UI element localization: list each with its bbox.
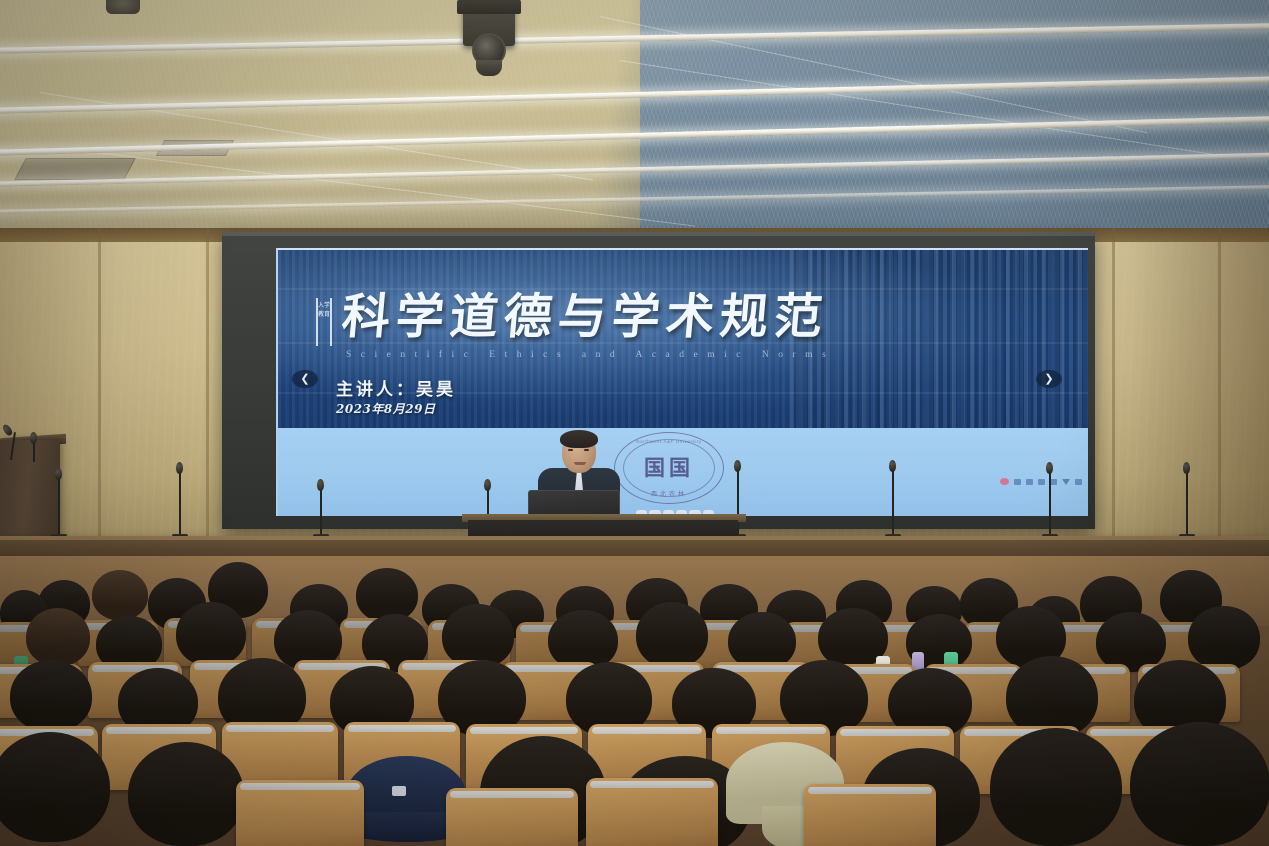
presenter-hair — [560, 430, 598, 448]
table-microphone-icon — [317, 479, 324, 491]
audience-person-head — [176, 602, 246, 666]
more-icon[interactable] — [1075, 479, 1082, 485]
presentation-slide[interactable]: 入学教育 科学道德与学术规范 Scientific Ethics and Aca… — [278, 250, 1088, 428]
wall-seam — [206, 228, 209, 560]
table-microphone-stand — [1186, 472, 1188, 536]
projector-base — [476, 60, 502, 76]
wall-seam — [1112, 228, 1115, 560]
screen-frame-highlight — [222, 232, 1095, 236]
audience-person-head — [548, 610, 618, 670]
audience-person-head — [26, 608, 90, 666]
table-microphone-stand — [58, 478, 60, 536]
presenter-eye — [568, 449, 573, 451]
audience-person-head — [10, 660, 92, 732]
slide-date-line: 2023年8月29日 — [336, 400, 435, 417]
play-icon[interactable] — [1062, 479, 1070, 485]
table-microphone-stand — [179, 472, 181, 536]
audience-person-head — [128, 742, 244, 846]
ceiling — [0, 0, 1269, 232]
slide-title: 科学道德与学术规范 — [339, 288, 830, 346]
projection-screen[interactable]: 入学教育 科学道德与学术规范 Scientific Ethics and Aca… — [276, 248, 1088, 516]
record-icon[interactable] — [1000, 478, 1009, 485]
table-microphone-icon — [55, 468, 62, 480]
note-icon[interactable] — [1050, 479, 1057, 485]
presenter-mouth — [574, 462, 586, 465]
slide-presenter-line: 主讲人：吴昊 — [336, 375, 456, 400]
pointer-icon[interactable] — [1026, 479, 1033, 485]
presenter — [536, 432, 620, 526]
table-microphone-stand — [892, 470, 894, 536]
presenter-eye — [584, 449, 589, 451]
table-microphone-icon — [176, 462, 183, 474]
table-microphone-stand — [320, 488, 322, 536]
seat — [804, 784, 936, 846]
university-emblem: Northwest A&F University 国国 西北农林 — [614, 432, 724, 504]
wall-shading — [1130, 228, 1269, 560]
ceiling-panel-left — [0, 0, 660, 232]
pen-icon[interactable] — [1038, 479, 1045, 485]
table-microphone-icon — [1046, 462, 1053, 474]
seat — [586, 778, 718, 846]
slide-next-button[interactable]: ❯ — [1036, 370, 1062, 388]
audience-person-head — [1096, 612, 1166, 672]
ceiling-vent — [14, 158, 136, 180]
table-microphone-icon — [484, 479, 491, 491]
table-microphone-stand — [1049, 472, 1051, 536]
seat — [236, 780, 364, 846]
slide-prev-button[interactable]: ❮ — [292, 370, 318, 388]
audience-area — [0, 556, 1269, 846]
audience-person-head — [92, 570, 148, 620]
cap-logo-icon — [392, 786, 406, 796]
table-microphone-icon — [734, 460, 741, 472]
audience-person-head — [1188, 606, 1260, 670]
slide-subtitle-english: Scientific Ethics and Academic Norms — [346, 350, 835, 360]
audience-person-head — [442, 604, 514, 668]
emblem-center-text: 国国 — [644, 452, 694, 482]
projector-mount — [457, 0, 521, 14]
slide-icon[interactable] — [1014, 479, 1021, 485]
smoke-detector-icon — [106, 0, 140, 14]
table-microphone-icon — [1183, 462, 1190, 474]
emblem-outer-text: Northwest A&F University — [636, 439, 701, 444]
audience-person-head — [990, 728, 1122, 846]
presentation-toolbar[interactable] — [1000, 478, 1082, 485]
audience-person-head — [636, 602, 708, 668]
stage-front-edge — [0, 536, 1269, 540]
audience-person-head — [0, 732, 110, 842]
lectern-microphone-icon — [30, 432, 37, 444]
seat — [446, 788, 578, 846]
table-microphone-icon — [889, 460, 896, 472]
slide-vertical-tag: 入学教育 — [316, 298, 332, 346]
audience-person-head — [1130, 722, 1269, 846]
screen-lower-area: Northwest A&F University 国国 西北农林 — [278, 428, 1088, 516]
lecture-hall-photo: 入学教育 科学道德与学术规范 Scientific Ethics and Aca… — [0, 0, 1269, 846]
emblem-bottom-text: 西北农林 — [651, 489, 687, 498]
